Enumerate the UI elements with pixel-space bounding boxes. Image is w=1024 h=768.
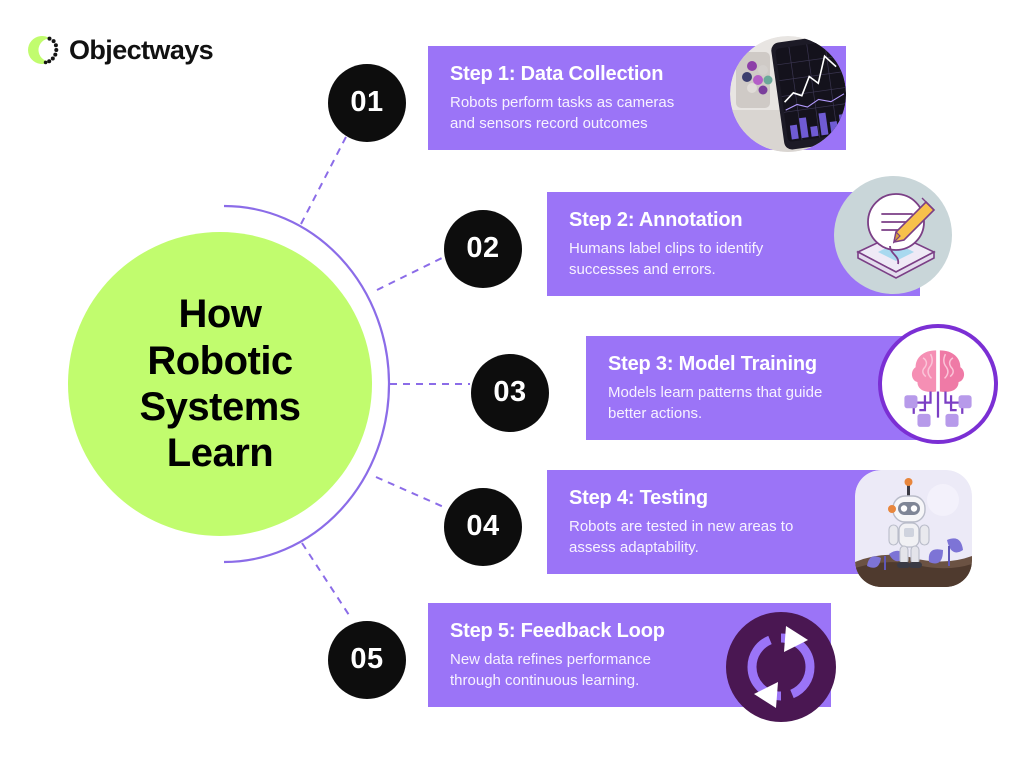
step-desc-3: Models learn patterns that guide better … [608, 383, 924, 424]
step-badge-5: 05 [328, 621, 406, 699]
objectways-circle-dots-logo-icon [24, 32, 60, 68]
step-title-3: Step 3: Model Training [608, 352, 924, 376]
step-media-5 [726, 612, 836, 722]
step-media-4 [855, 470, 972, 587]
step-badge-4: 04 [444, 488, 522, 566]
center-hub: How Robotic Systems Learn [68, 232, 372, 536]
step-badge-3: 03 [471, 354, 549, 432]
step-title-4: Step 4: Testing [569, 486, 899, 510]
step-media-1 [730, 36, 846, 152]
step-badge-2: 02 [444, 210, 522, 288]
hub-circle: How Robotic Systems Learn [68, 232, 372, 536]
step-row-3[interactable]: 03 Step 3: Model Training Models learn p… [471, 345, 944, 440]
step-desc-4: Robots are tested in new areas to assess… [569, 517, 899, 558]
step-badge-1: 01 [328, 64, 406, 142]
robot-plants-photo-icon [855, 470, 972, 587]
brand-logo: Objectways [24, 32, 213, 68]
brain-circuit-icon [882, 328, 994, 440]
step-media-2 [834, 176, 952, 294]
connector-5 [302, 543, 349, 615]
phone-chart-photo-icon [730, 36, 846, 152]
magnifier-document-pencil-icon [834, 176, 952, 294]
step-row-4[interactable]: 04 Step 4: Testing Robots are tested in … [444, 479, 919, 574]
step-media-3 [878, 324, 998, 444]
connector-2 [377, 256, 446, 290]
refresh-loop-icon [726, 612, 836, 722]
page-title: How Robotic Systems Learn [139, 291, 300, 477]
brand-name: Objectways [69, 37, 213, 64]
connector-4 [376, 477, 446, 508]
